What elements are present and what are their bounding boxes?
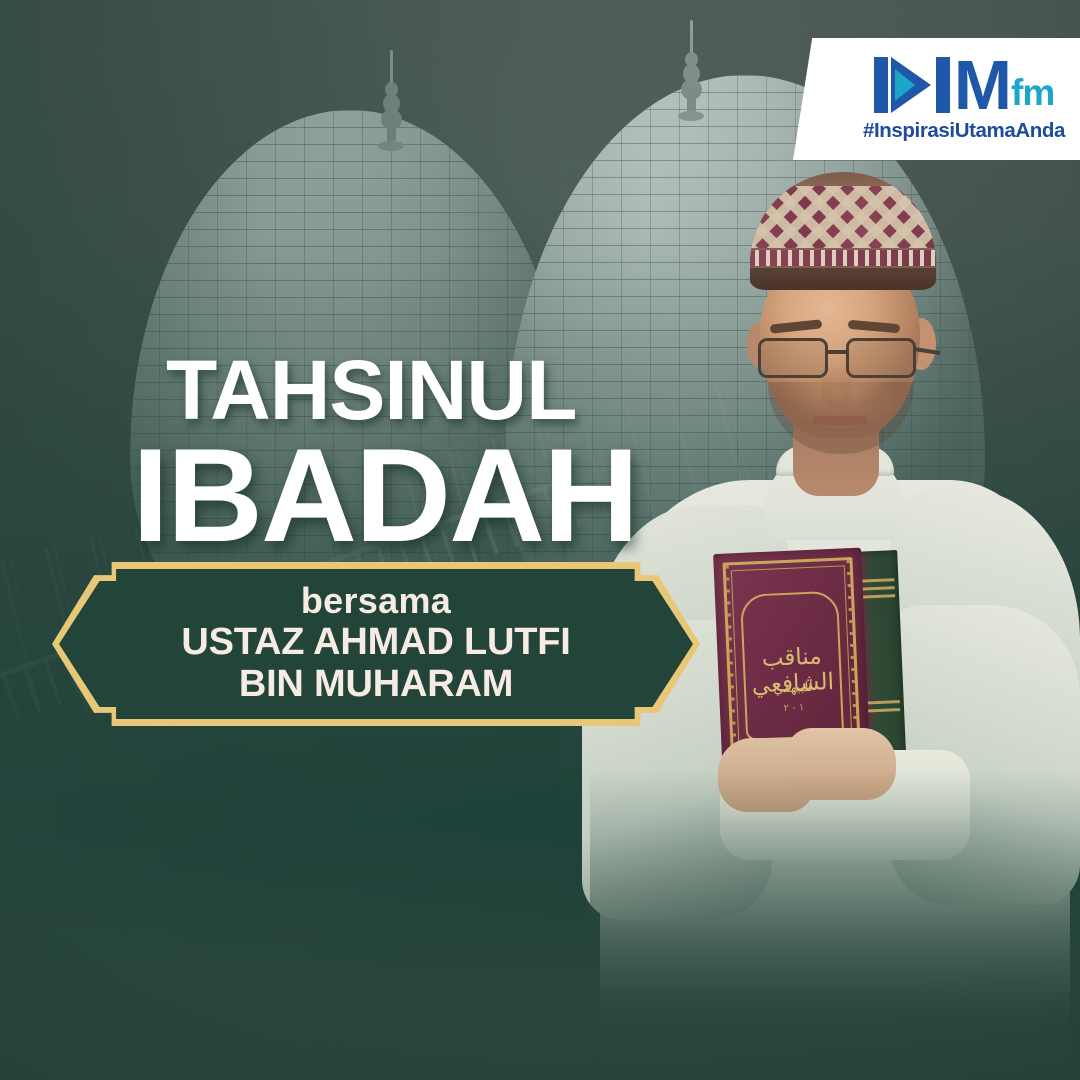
ikim-wordmark: M	[874, 56, 1008, 114]
eyeglasses	[750, 336, 936, 382]
cyan-triangle-accent	[895, 69, 915, 101]
lens-left	[758, 338, 828, 378]
letter-m: M	[954, 58, 1008, 113]
plaque-prefix: bersama	[301, 583, 451, 620]
plaque-text-group: bersama USTAZ AHMAD LUTFI BIN MUHARAM	[52, 562, 700, 726]
speaker-name-line-1: USTAZ AHMAD LUTFI	[181, 622, 570, 662]
title-line-1: TAHSINUL	[166, 348, 576, 432]
speaker-plaque: bersama USTAZ AHMAD LUTFI BIN MUHARAM	[52, 562, 700, 726]
mouth	[812, 416, 868, 425]
speaker-name-line-2: BIN MUHARAM	[239, 664, 513, 704]
cap-rim	[750, 268, 936, 290]
title-line-2: IBADAH	[132, 430, 637, 563]
promo-poster: مناقب الشافعي للبيهقي ١ - ٢ الصفحة	[0, 0, 1080, 1080]
songkok-cap	[750, 172, 936, 290]
lens-right	[846, 338, 916, 378]
fm-suffix: fm	[1011, 74, 1054, 111]
letter-i2-bar	[936, 57, 950, 113]
letter-k-glyph	[891, 57, 933, 113]
cap-dot-band	[750, 250, 936, 266]
glasses-temple	[914, 347, 940, 355]
ikim-fm-logo-banner[interactable]: M fm #InspirasiUtamaAnda	[793, 38, 1080, 160]
logo-wordmark-row: M fm	[853, 52, 1075, 114]
figure-fade-to-background	[590, 770, 1080, 1080]
logo-content: M fm #InspirasiUtamaAnda	[853, 52, 1075, 143]
glasses-bridge	[828, 350, 848, 354]
cap-chevron-pattern	[750, 186, 936, 248]
letter-i-bar	[874, 57, 888, 113]
